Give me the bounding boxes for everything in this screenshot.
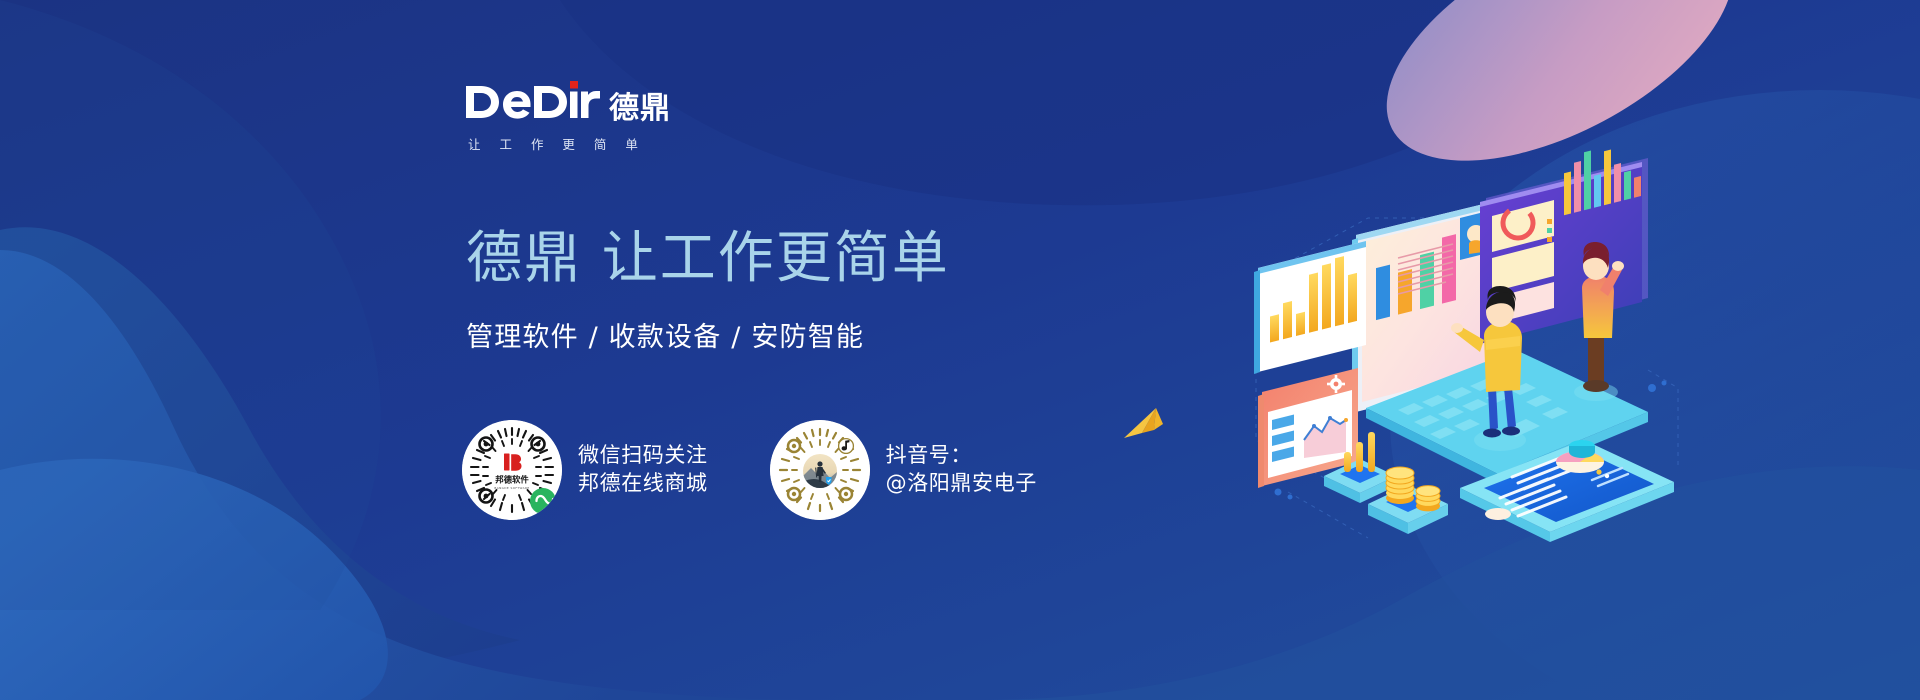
qr-caption-douyin: 抖音号： @洛阳鼎安电子 [886, 442, 1037, 497]
qr-caption-line-2: @洛阳鼎安电子 [886, 470, 1037, 498]
qr-caption-line-2: 邦德在线商城 [578, 470, 708, 498]
qr-code-row: 邦德软件 BANGDE SOFTWARE 微信扫码关注 邦德在线商城 [462, 420, 1037, 520]
deding-wordmark-icon [466, 80, 600, 124]
hero-headline: 德鼎 让工作更简单 [466, 228, 950, 291]
white-bar-chart-panel [1254, 241, 1366, 374]
paper-plane-icon [1122, 406, 1168, 451]
svg-text:BANGDE SOFTWARE: BANGDE SOFTWARE [494, 486, 529, 490]
qr-item-wechat[interactable]: 邦德软件 BANGDE SOFTWARE 微信扫码关注 邦德在线商城 [462, 420, 708, 520]
hero-subtitle: 管理软件 / 收款设备 / 安防智能 [466, 322, 864, 354]
logo-row: 德鼎 [466, 80, 666, 124]
isometric-data-analytics-illustration [1248, 140, 1688, 560]
logo-chinese-name: 德鼎 [609, 94, 671, 124]
music-note-icon [838, 439, 853, 454]
qr-caption-wechat: 微信扫码关注 邦德在线商城 [578, 442, 708, 497]
logo-tagline: 让 工 作 更 简 单 [466, 134, 666, 153]
svg-text:邦德软件: 邦德软件 [495, 475, 529, 485]
wechat-miniprogram-qr-icon[interactable]: 邦德软件 BANGDE SOFTWARE [462, 420, 562, 520]
qr-caption-line-1: 抖音号： [886, 442, 1037, 470]
wechat-miniprogram-badge-icon [530, 488, 556, 514]
qr-item-douyin[interactable]: 抖音号： @洛阳鼎安电子 [770, 420, 1037, 520]
brand-logo[interactable]: 德鼎 让 工 作 更 简 单 [466, 80, 666, 153]
douyin-qr-icon[interactable] [770, 420, 870, 520]
qr-caption-line-1: 微信扫码关注 [578, 442, 708, 470]
promotional-banner: 德鼎 让 工 作 更 简 单 德鼎 让工作更简单 管理软件 / 收款设备 / 安… [0, 0, 1920, 700]
